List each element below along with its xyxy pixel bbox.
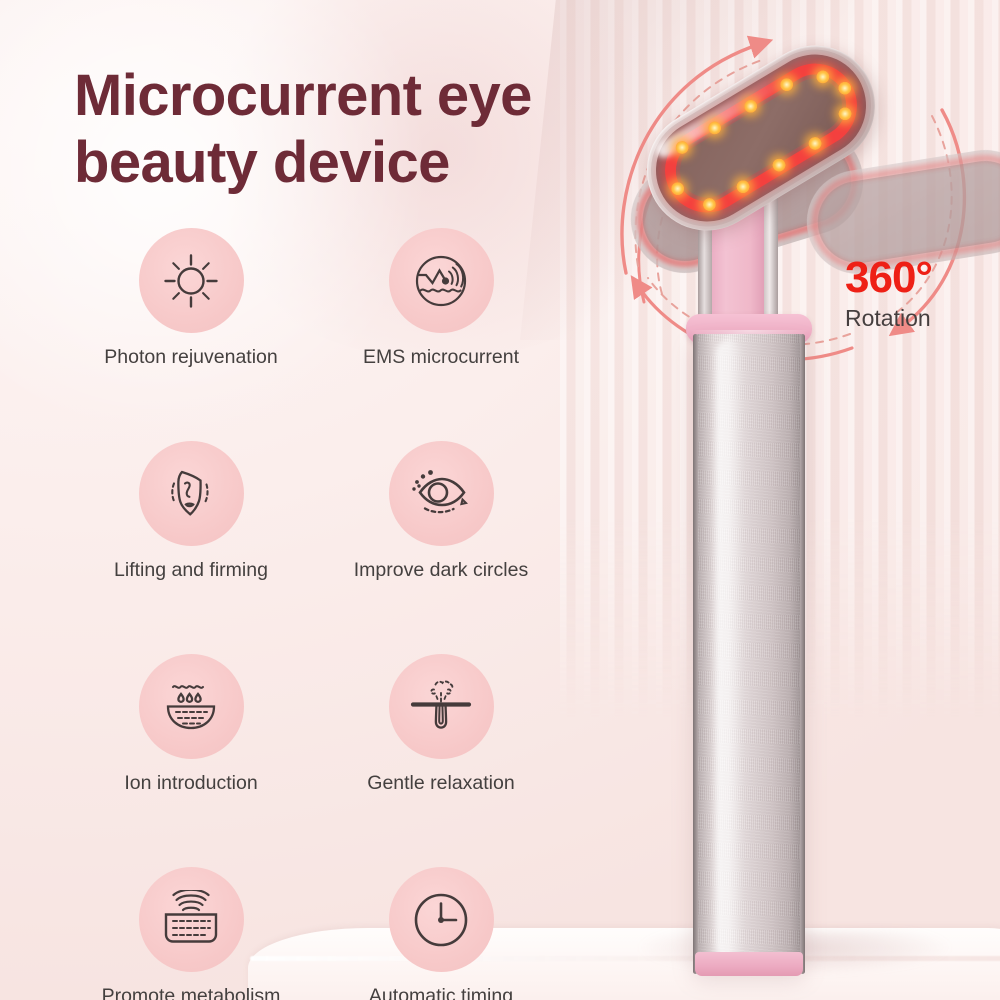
feature-row: Promote metabolism Automatic timing xyxy=(66,867,566,1000)
product-device-microcurrent-eye-wand: 360° Rotation xyxy=(600,18,1000,998)
device-handle-highlight xyxy=(716,340,742,960)
device-handle-edge-right xyxy=(800,334,805,974)
feature-label: Promote metabolism xyxy=(102,985,281,1000)
rotation-badge: 360° Rotation xyxy=(845,256,932,332)
feature-icon-disc xyxy=(389,654,494,759)
ems-wave-icon xyxy=(410,250,472,312)
feature-label: Improve dark circles xyxy=(354,559,528,582)
face-lift-icon xyxy=(160,463,222,525)
feature-icon-disc xyxy=(139,867,244,972)
page-title: Microcurrent eye beauty device xyxy=(74,62,654,197)
rotation-label: Rotation xyxy=(845,305,932,332)
row-spacer xyxy=(66,582,566,654)
feature-icon-disc xyxy=(139,441,244,546)
feature-icon-disc xyxy=(139,228,244,333)
feature-grid: Photon rejuvenation xyxy=(66,228,566,1000)
feature-row: Lifting and firming xyxy=(66,441,566,582)
feature-item-gentle-relaxation: Gentle relaxation xyxy=(316,654,566,795)
feature-icon-disc xyxy=(139,654,244,759)
feature-icon-disc xyxy=(389,228,494,333)
feature-icon-disc xyxy=(389,441,494,546)
feature-item-promote-metabolism: Promote metabolism xyxy=(66,867,316,1000)
title-line-2: beauty device xyxy=(74,129,654,196)
skin-waves-icon xyxy=(158,890,224,950)
sun-icon xyxy=(162,252,220,310)
title-line-1: Microcurrent eye xyxy=(74,62,654,129)
feature-item-lifting-and-firming: Lifting and firming xyxy=(66,441,316,582)
rotation-degrees: 360° xyxy=(845,256,932,300)
feature-label: Lifting and firming xyxy=(114,559,268,582)
feature-icon-disc xyxy=(389,867,494,972)
feature-item-automatic-timing: Automatic timing xyxy=(316,867,566,1000)
clock-icon xyxy=(410,889,472,951)
feature-item-photon-rejuvenation: Photon rejuvenation xyxy=(66,228,316,369)
product-image-canvas: Microcurrent eye beauty device Photon re… xyxy=(0,0,1000,1000)
feature-label: Automatic timing xyxy=(369,985,513,1000)
feature-label: Gentle relaxation xyxy=(367,772,514,795)
feature-label: EMS microcurrent xyxy=(363,346,519,369)
row-spacer xyxy=(66,369,566,441)
device-handle-edge-left xyxy=(693,334,698,974)
feature-row: Ion introduction xyxy=(66,654,566,795)
feature-item-improve-dark-circles: Improve dark circles xyxy=(316,441,566,582)
row-spacer xyxy=(66,795,566,867)
pore-steam-icon xyxy=(408,676,474,738)
ion-bowl-icon xyxy=(159,678,223,736)
device-handle-texture xyxy=(693,334,805,970)
feature-row: Photon rejuvenation xyxy=(66,228,566,369)
feature-item-ion-introduction: Ion introduction xyxy=(66,654,316,795)
feature-item-ems-microcurrent: EMS microcurrent xyxy=(316,228,566,369)
feature-label: Ion introduction xyxy=(124,772,257,795)
device-handle-base-cap xyxy=(695,952,803,976)
feature-label: Photon rejuvenation xyxy=(104,346,277,369)
eye-icon xyxy=(408,464,474,524)
